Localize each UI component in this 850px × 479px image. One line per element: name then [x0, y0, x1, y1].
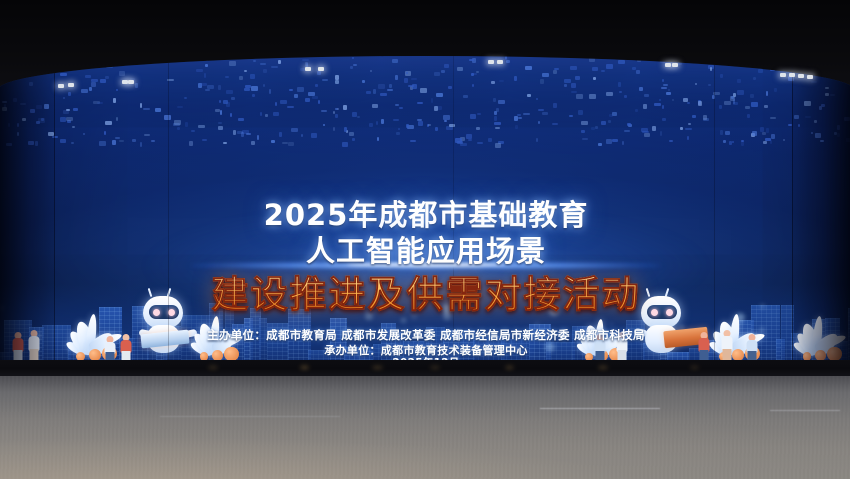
conference-hall-scene: 2025年成都市基础教育 人工智能应用场景 建设推进及供需对接活动 主办单位：成…	[0, 0, 850, 479]
led-stage-screen: 2025年成都市基础教育 人工智能应用场景 建设推进及供需对接活动 主办单位：成…	[0, 56, 850, 366]
stage-lip-light	[372, 366, 383, 369]
organizers-line: 主办单位：成都市教育局 成都市发展改革委 成都市经信局市新经济委 成都市科技局	[0, 327, 850, 343]
screen-text-block: 2025年成都市基础教育 人工智能应用场景 建设推进及供需对接活动 主办单位：成…	[0, 56, 850, 366]
stage-lip-light	[505, 366, 514, 369]
stage-lip-light	[300, 366, 309, 369]
stage-lip-light	[208, 366, 218, 369]
hall-floor	[0, 376, 850, 479]
stage-lip-light	[598, 366, 608, 369]
floor-texture	[0, 376, 850, 479]
stage-lip-light	[690, 366, 699, 369]
stage-lip-light	[430, 366, 440, 369]
title-line-3: 建设推进及供需对接活动	[0, 264, 850, 318]
